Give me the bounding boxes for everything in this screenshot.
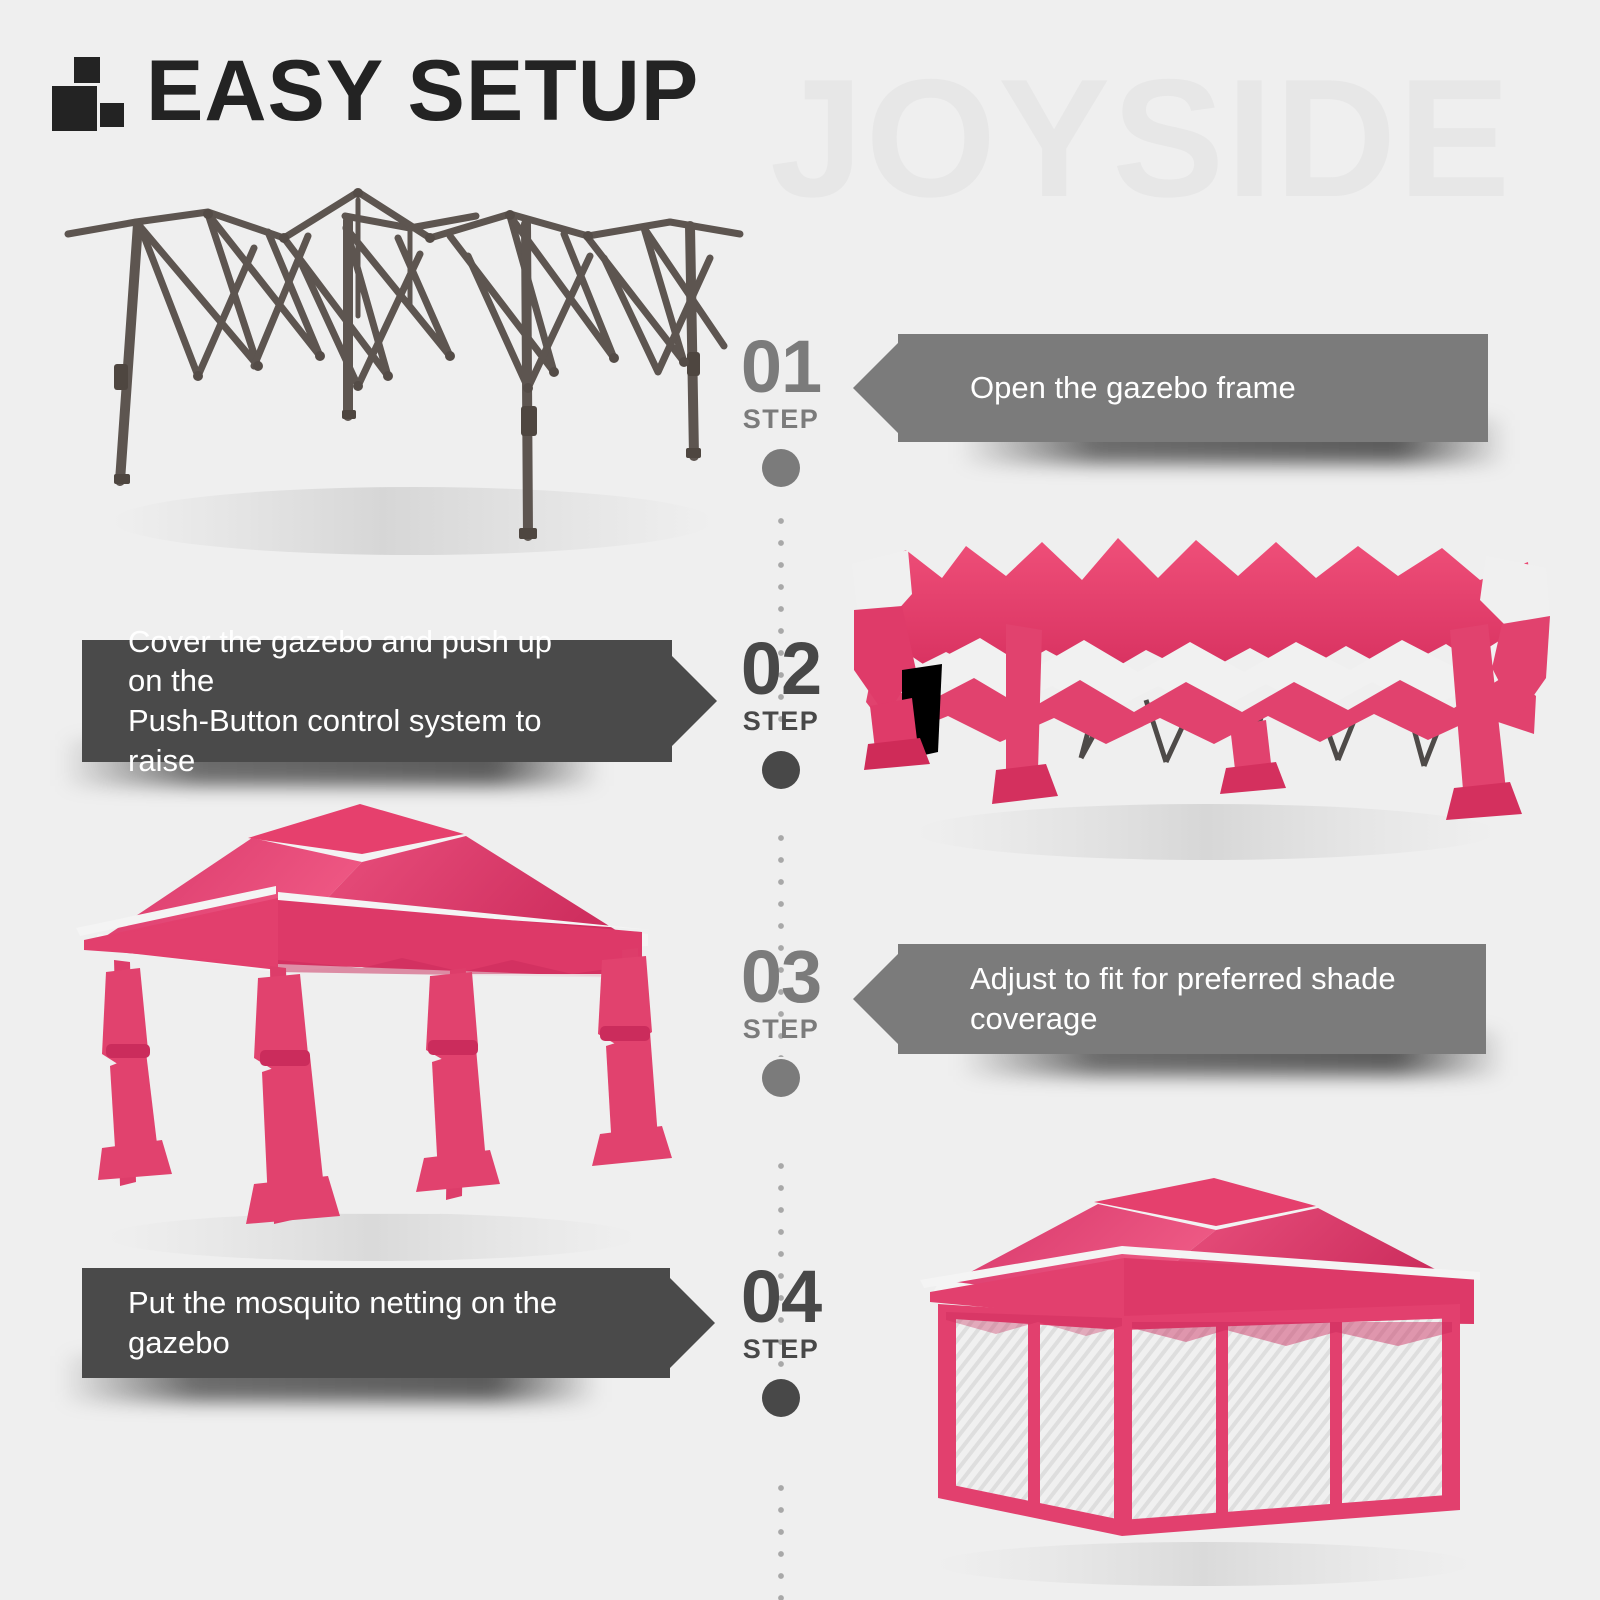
step-number-03: 03 bbox=[681, 942, 881, 1012]
infographic-canvas: JOYSIDE EASY SETUP 01 STEP Open the gaze… bbox=[0, 0, 1600, 1600]
brand-watermark: JOYSIDE bbox=[770, 42, 1512, 235]
step-label-01: STEP bbox=[681, 404, 881, 435]
step-callout-03: Adjust to fit for preferred shade covera… bbox=[898, 944, 1486, 1054]
step-marker-03: 03 STEP bbox=[681, 942, 881, 1097]
timeline-dots-4 bbox=[778, 1477, 784, 1600]
step-bullet-04 bbox=[762, 1379, 800, 1417]
step-text-02-line2: Push-Button control system to raise bbox=[128, 701, 586, 780]
page-title: EASY SETUP bbox=[146, 52, 699, 131]
page-header: EASY SETUP bbox=[52, 52, 699, 131]
step-number-01: 01 bbox=[681, 332, 881, 402]
gazebo-raised-curtains-photo bbox=[62, 782, 678, 1272]
step-text-03: Adjust to fit for preferred shade covera… bbox=[970, 959, 1452, 1038]
step-text-04: Put the mosquito netting on the gazebo bbox=[128, 1283, 584, 1362]
callout-arrow-04 bbox=[670, 1278, 715, 1368]
callout-arrow-02 bbox=[672, 656, 717, 746]
callout-arrow-01 bbox=[853, 343, 898, 433]
step-callout-01: Open the gazebo frame bbox=[898, 334, 1488, 442]
step-callout-04: Put the mosquito netting on the gazebo bbox=[82, 1268, 670, 1378]
step-text-02-line1: Cover the gazebo and push up on the bbox=[128, 622, 586, 701]
step-bullet-02 bbox=[762, 751, 800, 789]
step-label-03: STEP bbox=[681, 1014, 881, 1045]
three-squares-icon bbox=[52, 57, 124, 131]
gazebo-canopy-draped-photo bbox=[846, 520, 1556, 880]
step-callout-02: Cover the gazebo and push up on the Push… bbox=[82, 640, 672, 762]
step-marker-01: 01 STEP bbox=[681, 332, 881, 487]
gazebo-mosquito-netting-photo bbox=[886, 1152, 1522, 1592]
step-text-01: Open the gazebo frame bbox=[970, 368, 1296, 408]
callout-arrow-03 bbox=[853, 954, 898, 1044]
gazebo-frame-photo bbox=[58, 176, 748, 576]
step-bullet-03 bbox=[762, 1059, 800, 1097]
step-bullet-01 bbox=[762, 449, 800, 487]
